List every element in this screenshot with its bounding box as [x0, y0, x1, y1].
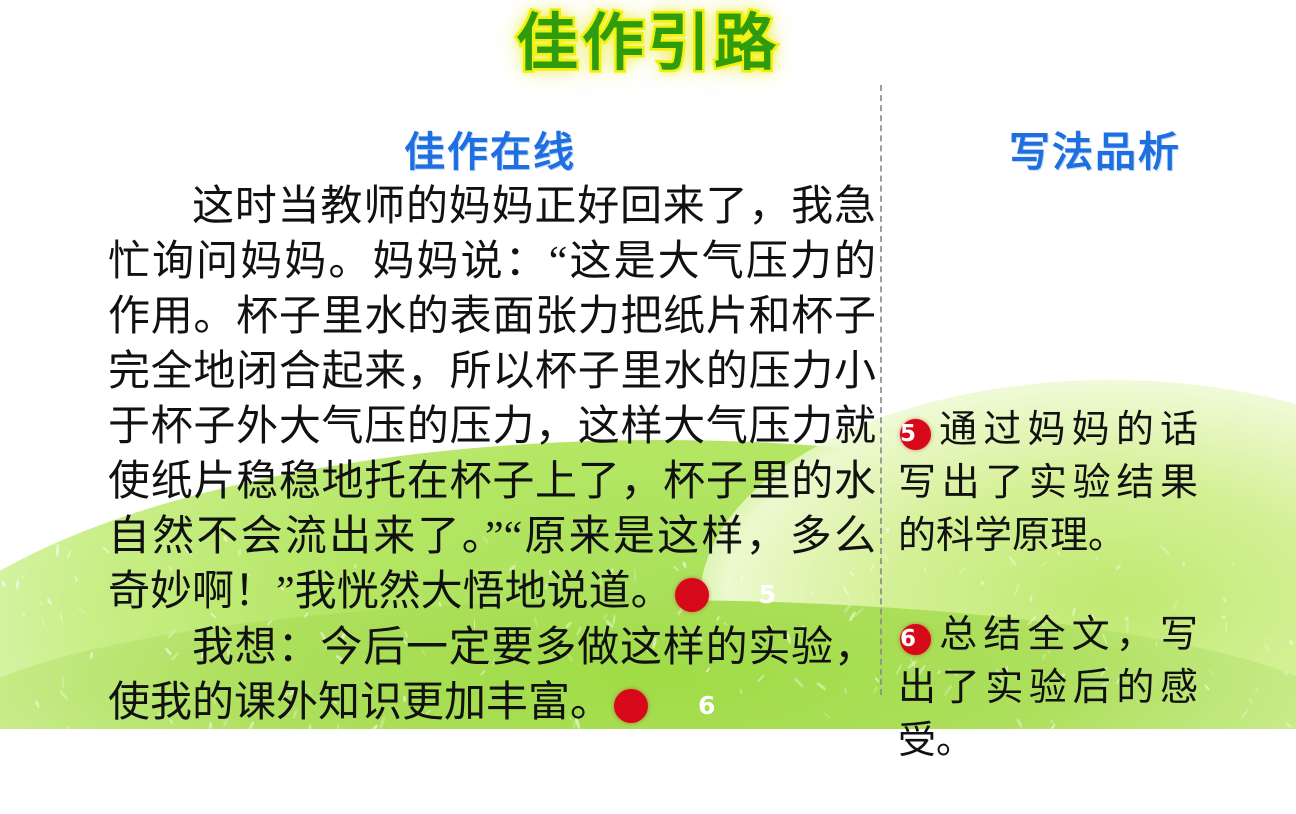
marker-6-inline: 6: [614, 689, 648, 723]
essay-paragraph-2: 我想：今后一定要多做这样的实验，使我的课外知识更加丰富。6: [108, 621, 876, 731]
left-column-heading: 佳作在线: [270, 118, 710, 178]
analysis-note-6: 6总结全文，写出了实验后的感受。: [898, 609, 1198, 768]
essay-paragraph-2-text: 我想：今后一定要多做这样的实验，使我的课外知识更加丰富。: [108, 625, 876, 726]
marker-5-inline: 5: [675, 578, 709, 612]
essay-paragraph-1-text: 这时当教师的妈妈正好回来了，我急忙询问妈妈。妈妈说：“这是大气压力的作用。杯子里…: [108, 184, 876, 615]
analysis-notes: 5通过妈妈的话写出了实验结果的科学原理。 6总结全文，写出了实验后的感受。: [898, 404, 1198, 814]
analysis-note-5-text: 通过妈妈的话写出了实验结果的科学原理。: [898, 409, 1198, 557]
marker-6-note: 6: [900, 624, 931, 655]
column-divider: [880, 85, 882, 695]
analysis-note-6-text: 总结全文，写出了实验后的感受。: [898, 614, 1198, 762]
marker-5-note: 5: [900, 419, 931, 450]
page-title: 佳作引路: [0, 6, 1296, 80]
right-column-heading: 写法品析: [900, 118, 1290, 178]
essay-body: 这时当教师的妈妈正好回来了，我急忙询问妈妈。妈妈说：“这是大气压力的作用。杯子里…: [108, 180, 876, 732]
essay-paragraph-1: 这时当教师的妈妈正好回来了，我急忙询问妈妈。妈妈说：“这是大气压力的作用。杯子里…: [108, 180, 876, 620]
analysis-note-5: 5通过妈妈的话写出了实验结果的科学原理。: [898, 404, 1198, 563]
